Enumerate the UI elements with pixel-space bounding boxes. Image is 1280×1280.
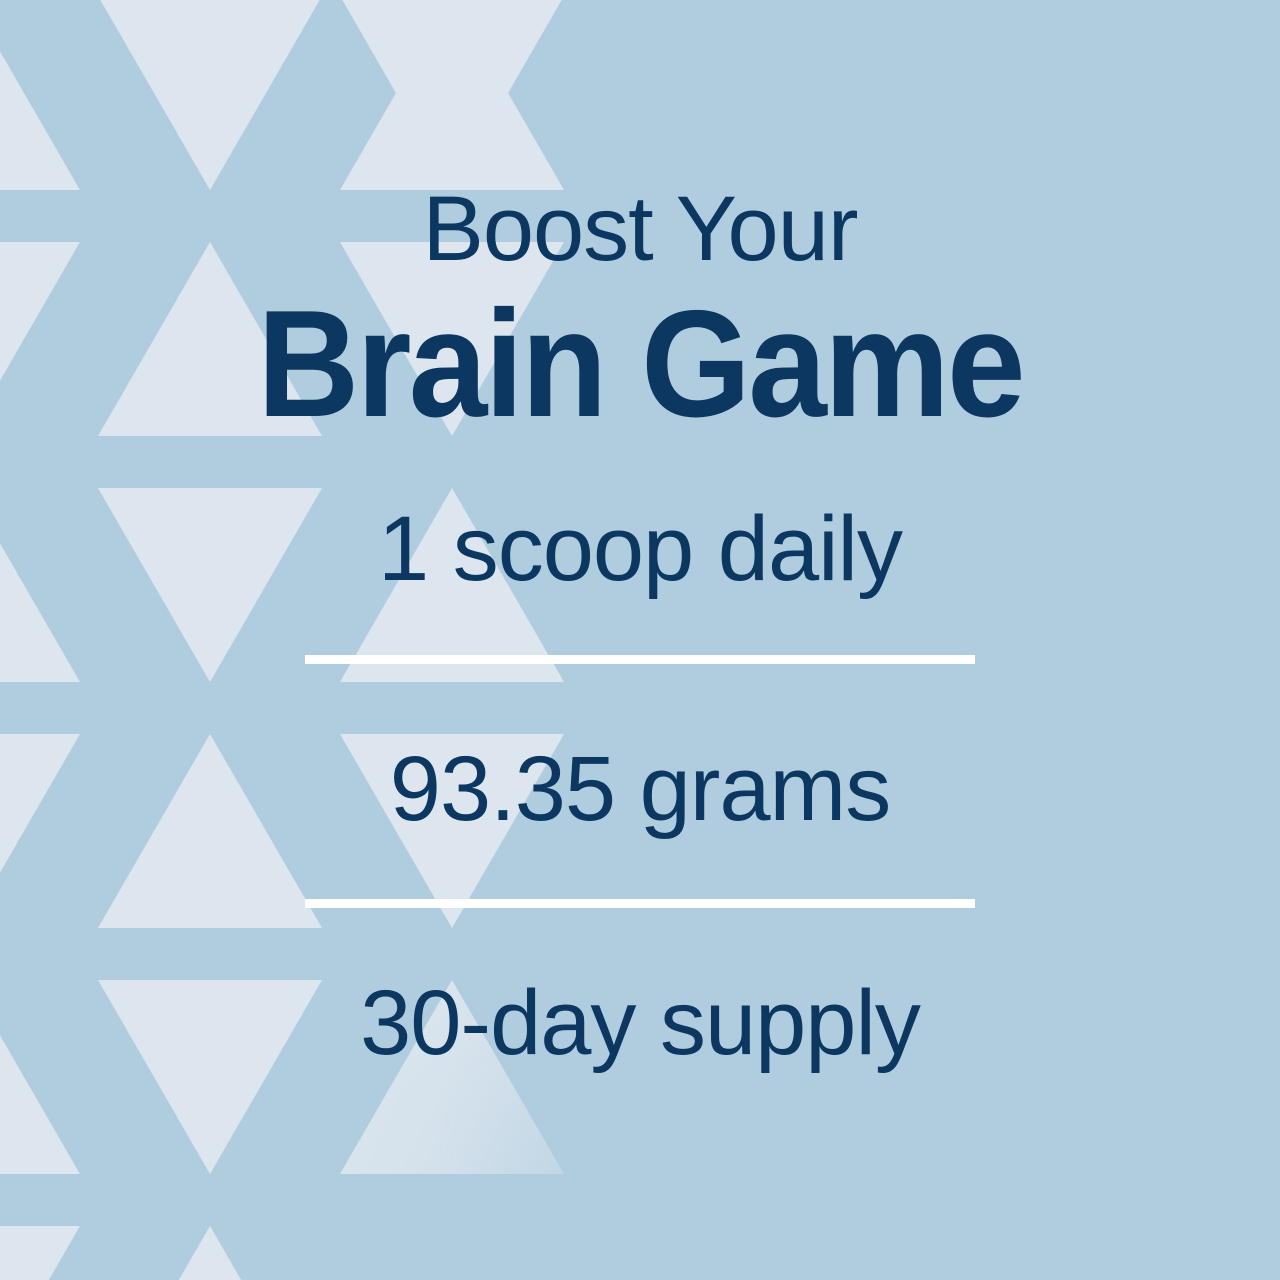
divider-rule-2 — [305, 899, 975, 908]
promo-graphic: Boost Your Brain Game 1 scoop daily 93.3… — [0, 0, 1280, 1280]
spec-dosage: 1 scoop daily — [0, 503, 1280, 595]
page-title: Brain Game — [45, 288, 1235, 440]
spec-weight: 93.35 grams — [0, 743, 1280, 835]
spec-supply: 30-day supply — [0, 977, 1280, 1069]
eyebrow-text: Boost Your — [0, 183, 1280, 275]
divider-rule-1 — [305, 655, 975, 664]
card-content: Boost Your Brain Game 1 scoop daily 93.3… — [0, 0, 1280, 1280]
